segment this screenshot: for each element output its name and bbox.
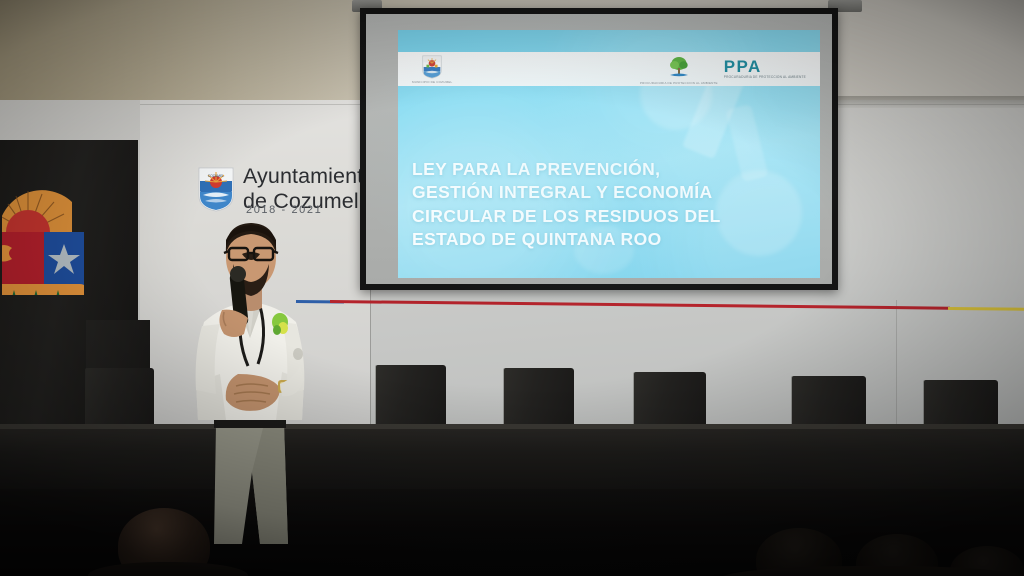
ppa-brand-block: PPA PROCURADURIA DE PROTECCION AL AMBIEN…: [724, 58, 806, 79]
quintana-roo-coat-of-arms-icon: [2, 170, 84, 295]
slide-logo-left: MUNICIPIO DE COZUMEL: [412, 55, 452, 84]
ppa-brand-subtitle: PROCURADURIA DE PROTECCION AL AMBIENTE: [724, 76, 806, 79]
slide-title-line-2: GESTIÓN INTEGRAL Y ECONOMÍA: [412, 181, 806, 204]
speaker-person: [176, 214, 326, 544]
slide-title-line-1: LEY PARA LA PREVENCIÓN,: [412, 158, 806, 181]
slide-logo-right-caption: PROCURADURIA DE PROTECCION AL AMBIENTE: [640, 81, 718, 85]
ppa-brand-title: PPA: [724, 58, 806, 75]
cozumel-municipal-logo-icon: [420, 55, 444, 79]
slide-title-line-4: ESTADO DE QUINTANA ROO: [412, 228, 806, 251]
projected-slide: MUNICIPIO DE COZUMEL PROCURADURIA DE PRO…: [398, 30, 820, 278]
slide-title-line-3: CIRCULAR DE LOS RESIDUOS DEL: [412, 205, 806, 228]
stage-table-edge: [0, 424, 1024, 429]
slide-header-bar: MUNICIPIO DE COZUMEL PROCURADURIA DE PRO…: [398, 52, 820, 86]
presentation-photo-scene: COZUMEL Ayuntamiento de Cozumel 2018 - 2…: [0, 0, 1024, 576]
institution-line-1: Ayuntamiento: [243, 164, 375, 189]
slide-title: LEY PARA LA PREVENCIÓN, GESTIÓN INTEGRAL…: [412, 158, 806, 251]
slide-logo-right-block: PROCURADURIA DE PROTECCION AL AMBIENTE P…: [640, 54, 806, 85]
stage-table: [0, 424, 1024, 494]
chair-1: [86, 368, 154, 430]
chair-3: [504, 368, 574, 432]
cozumel-municipal-shield-icon: COZUMEL: [196, 166, 236, 210]
ppa-tree-icon: [666, 54, 692, 80]
green-logo-patch: [272, 313, 288, 335]
chair-2: [376, 365, 446, 431]
slide-logo-left-caption: MUNICIPIO DE COZUMEL: [412, 80, 452, 84]
svg-text:COZUMEL: COZUMEL: [208, 174, 225, 178]
wall-seam-vertical-right: [896, 300, 897, 430]
